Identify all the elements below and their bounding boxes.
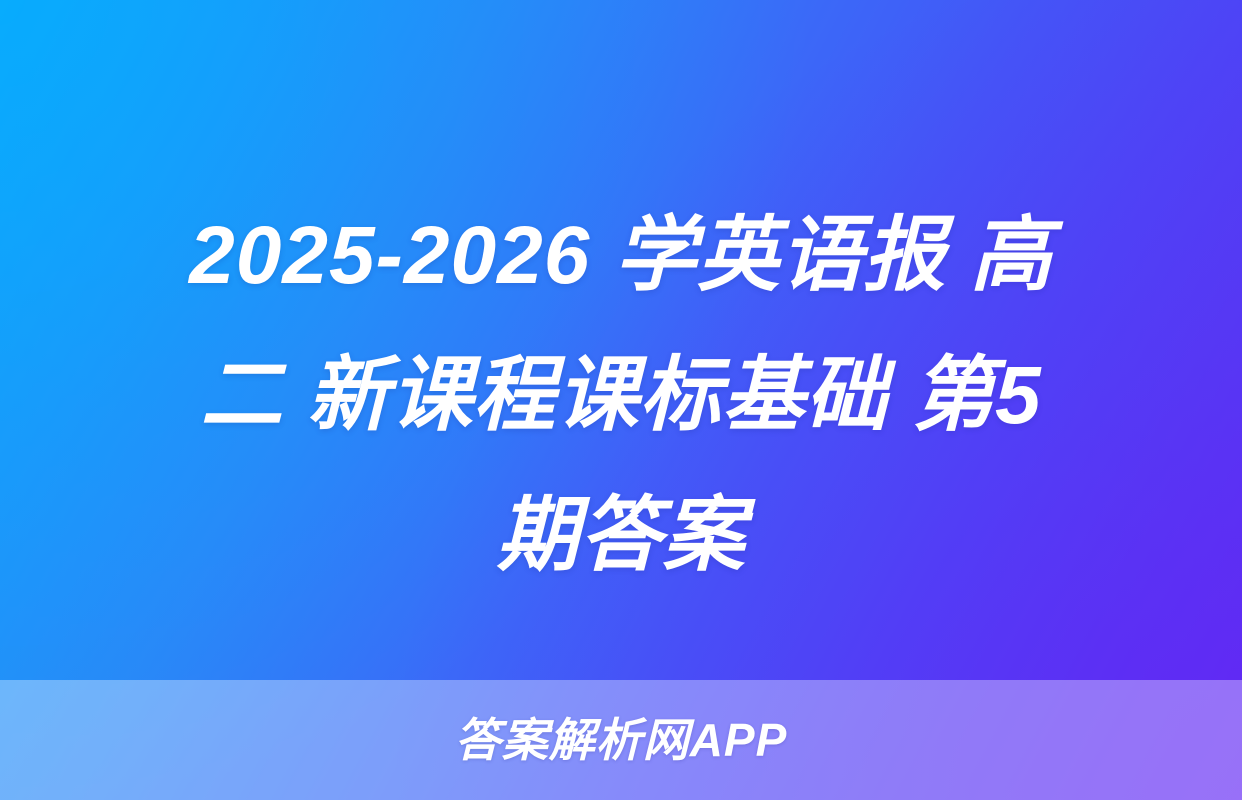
watermark-banner: 答案解析网APP <box>0 680 1242 800</box>
page-title-line-3: 期答案 <box>58 466 1184 606</box>
watermark-brand-label: 答案解析网APP <box>455 717 788 763</box>
page-title-line-1: 2025-2026 学英语报 高 <box>58 186 1184 326</box>
page-title: 2025-2026 学英语报 高 二 新课程课标基础 第5 期答案 <box>0 186 1242 606</box>
answer-cover-card: 2025-2026 学英语报 高 二 新课程课标基础 第5 期答案 答案解析网A… <box>0 0 1242 800</box>
page-title-line-2: 二 新课程课标基础 第5 <box>58 326 1184 466</box>
